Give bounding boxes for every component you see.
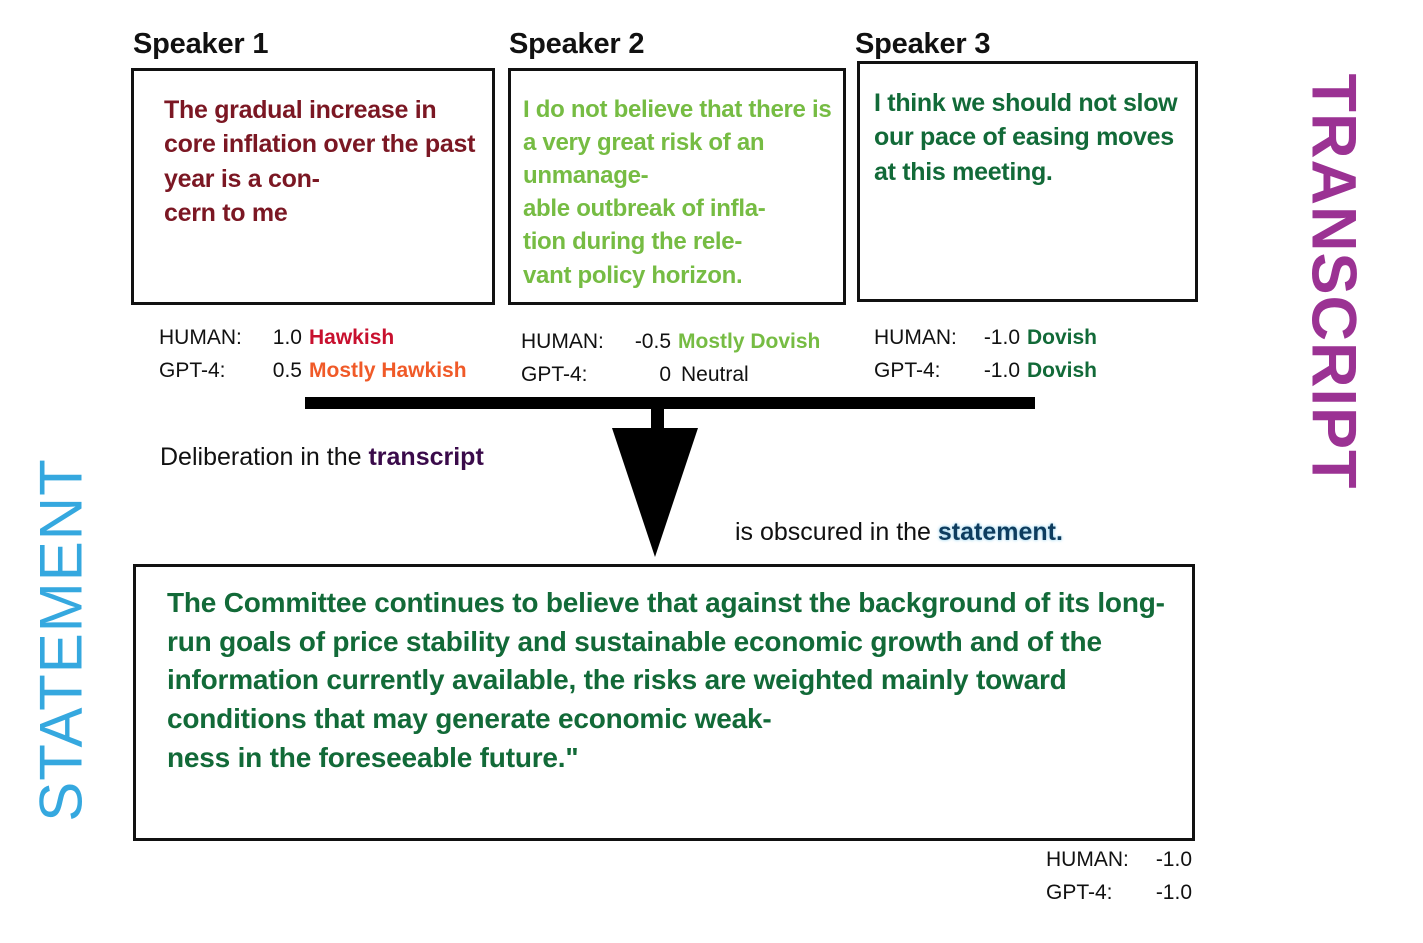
rating-row-human: HUMAN: 1.0 Hawkish bbox=[159, 322, 467, 355]
caption-deliberation: Deliberation in the transcript bbox=[160, 443, 484, 472]
caption-deliberation-prefix: Deliberation in the bbox=[160, 443, 368, 471]
rating-row-human: HUMAN: -1.0 bbox=[1046, 844, 1192, 877]
rating-source: GPT-4: bbox=[159, 355, 247, 388]
speaker-1-quote-box: The gradual increase in core inflation o… bbox=[131, 68, 495, 305]
rating-value: -1.0 bbox=[962, 322, 1020, 355]
rating-label-dovish: Dovish bbox=[1027, 355, 1097, 388]
speaker-1-heading: Speaker 1 bbox=[133, 28, 268, 61]
speaker-3-quote-box: I think we should not slow our pace of e… bbox=[857, 61, 1198, 302]
statement-rail-label: STATEMENT bbox=[32, 458, 92, 821]
rating-value: -1.0 bbox=[1136, 844, 1192, 877]
speaker-3-heading: Speaker 3 bbox=[855, 28, 990, 61]
rating-source: HUMAN: bbox=[874, 322, 962, 355]
transcript-rail-label: TRANSCRIPT bbox=[1302, 74, 1365, 490]
speaker-3-quote-text: I think we should not slow our pace of e… bbox=[860, 64, 1195, 189]
rating-value: 0 bbox=[609, 359, 671, 392]
rating-source: GPT-4: bbox=[874, 355, 962, 388]
rating-value: 0.5 bbox=[247, 355, 302, 388]
rating-label-mostly-hawkish: Mostly Hawkish bbox=[309, 355, 467, 388]
speaker-2-quote-text: I do not believe that there is a very gr… bbox=[511, 71, 843, 292]
speaker-3-ratings: HUMAN: -1.0 Dovish GPT-4: -1.0 Dovish bbox=[874, 322, 1097, 387]
rating-value: 1.0 bbox=[247, 322, 302, 355]
rating-value: -1.0 bbox=[962, 355, 1020, 388]
statement-ratings: HUMAN: -1.0 GPT-4: -1.0 bbox=[1046, 844, 1192, 909]
speaker-2-quote-box: I do not believe that there is a very gr… bbox=[508, 68, 846, 305]
rating-value: -0.5 bbox=[609, 326, 671, 359]
speaker-1-ratings: HUMAN: 1.0 Hawkish GPT-4: 0.5 Mostly Haw… bbox=[159, 322, 467, 387]
caption-obscured-prefix: is obscured in the bbox=[735, 518, 938, 546]
statement-text: The Committee continues to believe that … bbox=[136, 567, 1192, 777]
caption-statement-highlight: statement. bbox=[938, 518, 1063, 546]
caption-transcript-highlight: transcript bbox=[368, 443, 483, 471]
rating-row-gpt4: GPT-4: 0 Neutral bbox=[521, 359, 820, 392]
rating-label-hawkish: Hawkish bbox=[309, 322, 394, 355]
speaker-2-ratings: HUMAN: -0.5 Mostly Dovish GPT-4: 0 Neutr… bbox=[521, 326, 820, 391]
figure-root: TRANSCRIPT STATEMENT Speaker 1 Speaker 2… bbox=[0, 0, 1423, 943]
caption-obscured: is obscured in the statement. bbox=[735, 518, 1063, 547]
rating-source: GPT-4: bbox=[1046, 877, 1136, 910]
rating-row-human: HUMAN: -1.0 Dovish bbox=[874, 322, 1097, 355]
rating-label-dovish: Dovish bbox=[1027, 322, 1097, 355]
rating-source: HUMAN: bbox=[159, 322, 247, 355]
rating-row-human: HUMAN: -0.5 Mostly Dovish bbox=[521, 326, 820, 359]
rating-source: GPT-4: bbox=[521, 359, 609, 392]
speaker-2-heading: Speaker 2 bbox=[509, 28, 644, 61]
rating-row-gpt4: GPT-4: 0.5 Mostly Hawkish bbox=[159, 355, 467, 388]
rating-label-mostly-dovish: Mostly Dovish bbox=[678, 326, 820, 359]
rating-source: HUMAN: bbox=[1046, 844, 1136, 877]
rating-label-neutral: Neutral bbox=[681, 359, 749, 392]
rating-source: HUMAN: bbox=[521, 326, 609, 359]
speaker-1-quote-text: The gradual increase in core inflation o… bbox=[134, 71, 492, 230]
down-arrow-icon bbox=[612, 428, 698, 557]
rating-row-gpt4: GPT-4: -1.0 bbox=[1046, 877, 1192, 910]
rating-value: -1.0 bbox=[1136, 877, 1192, 910]
rating-row-gpt4: GPT-4: -1.0 Dovish bbox=[874, 355, 1097, 388]
arrow-horizontal-bar bbox=[305, 397, 1035, 409]
statement-box: The Committee continues to believe that … bbox=[133, 564, 1195, 841]
